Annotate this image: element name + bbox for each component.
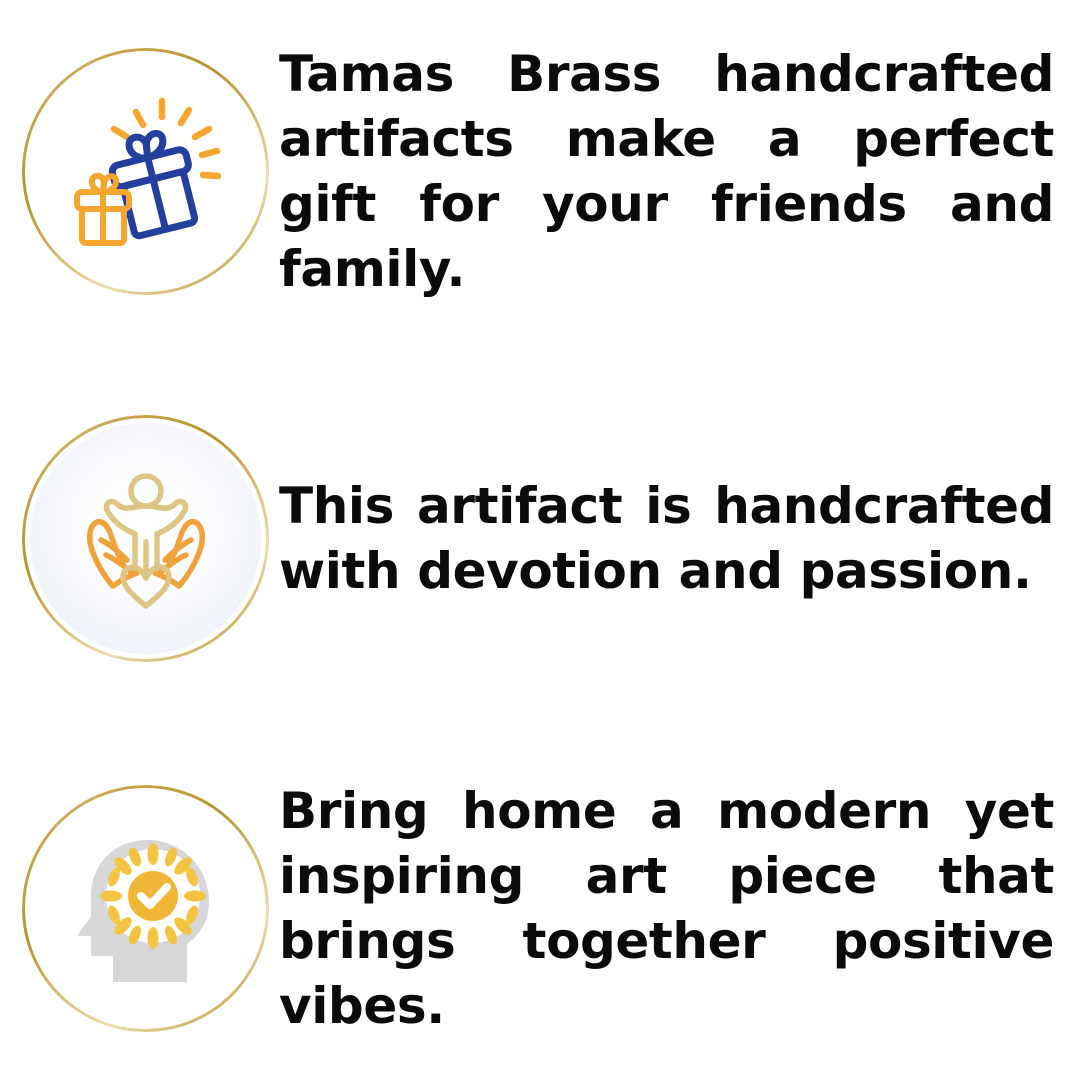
icon-medallion-devotion [22,415,269,662]
benefit-text-gift: Tamas Brass handcrafted artifacts make a… [279,42,1054,302]
icon-medallion-positive-vibes [22,785,269,1032]
icon-medallion-gift [22,48,269,295]
benefit-text-positive-vibes: Bring home a modern yet inspiring art pi… [279,779,1054,1039]
benefit-row-positive-vibes: Bring home a modern yet inspiring art pi… [0,785,1080,1032]
caring-hands-icon [61,454,231,624]
mindful-head-sun-icon [61,824,231,994]
benefit-row-gift: Tamas Brass handcrafted artifacts make a… [0,48,1080,295]
benefits-list: Tamas Brass handcrafted artifacts make a… [0,0,1080,1080]
benefit-text-devotion: This artifact is handcrafted with devoti… [279,474,1054,604]
gift-boxes-icon [61,87,231,257]
benefit-row-devotion: This artifact is handcrafted with devoti… [0,415,1080,662]
